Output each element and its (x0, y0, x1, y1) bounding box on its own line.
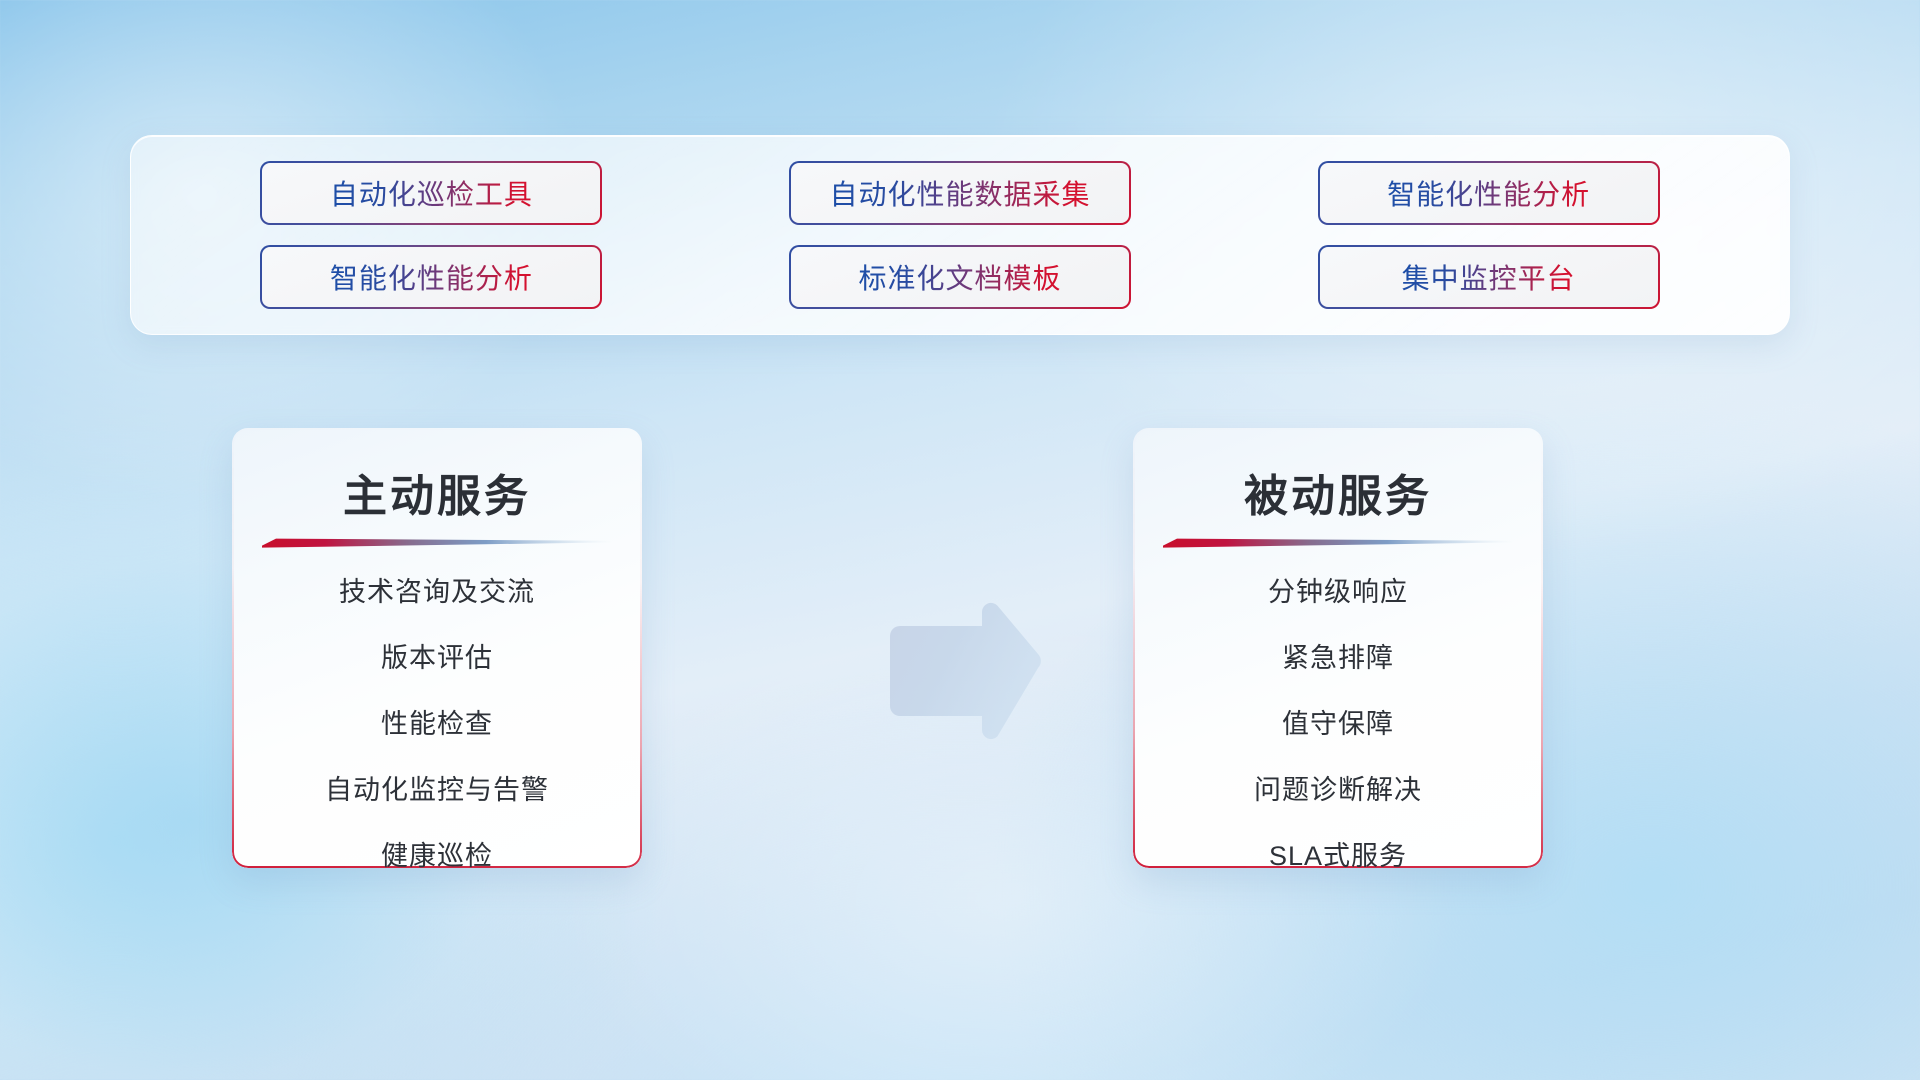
capability-tag-3-surface: 智能化性能分析 (1320, 163, 1658, 223)
list-item: 紧急排障 (1282, 636, 1394, 675)
list-item: 值守保障 (1282, 702, 1394, 741)
service-card-passive-title: 被动服务 (1133, 460, 1543, 524)
capability-tag-6[interactable]: 集中监控平台 (1318, 245, 1660, 309)
capability-tag-2[interactable]: 自动化性能数据采集 (789, 161, 1131, 225)
list-item: 问题诊断解决 (1254, 768, 1422, 807)
capability-tags-panel: 自动化巡检工具 自动化性能数据采集 智能化性能分析 智能化性能分析 标准化文档模… (130, 135, 1790, 335)
capability-tag-4-surface: 智能化性能分析 (262, 247, 600, 307)
service-card-active[interactable]: 主动服务 技术咨询及交流 版本评估 性能检查 自动化监控与告警 健康巡检 (232, 428, 642, 868)
capability-tag-2-label: 自动化性能数据采集 (829, 173, 1090, 213)
list-item: 健康巡检 (381, 834, 493, 868)
service-card-passive-list: 分钟级响应 紧急排障 值守保障 问题诊断解决 SLA式服务 (1133, 570, 1543, 868)
capability-tag-5-surface: 标准化文档模板 (791, 247, 1129, 307)
capability-tag-3[interactable]: 智能化性能分析 (1318, 161, 1660, 225)
capability-tag-3-label: 智能化性能分析 (1387, 173, 1590, 213)
list-item: 版本评估 (381, 636, 493, 675)
capability-tag-6-surface: 集中监控平台 (1320, 247, 1658, 307)
capability-tag-1-label: 自动化巡检工具 (330, 173, 533, 213)
capability-tag-2-surface: 自动化性能数据采集 (791, 163, 1129, 223)
capability-tag-4-label: 智能化性能分析 (330, 257, 533, 297)
capability-tags-grid: 自动化巡检工具 自动化性能数据采集 智能化性能分析 智能化性能分析 标准化文档模… (131, 136, 1789, 334)
service-card-passive-divider (1163, 536, 1513, 548)
arrow-right-icon (878, 598, 1046, 744)
list-item: 分钟级响应 (1268, 570, 1408, 609)
capability-tag-1-surface: 自动化巡检工具 (262, 163, 600, 223)
capability-tag-1[interactable]: 自动化巡检工具 (260, 161, 602, 225)
capability-tag-5[interactable]: 标准化文档模板 (789, 245, 1131, 309)
service-card-active-title: 主动服务 (232, 460, 642, 524)
capability-tag-4[interactable]: 智能化性能分析 (260, 245, 602, 309)
service-card-active-divider (262, 536, 612, 548)
capability-tag-6-label: 集中监控平台 (1402, 257, 1576, 297)
list-item: SLA式服务 (1269, 834, 1407, 868)
service-card-active-list: 技术咨询及交流 版本评估 性能检查 自动化监控与告警 健康巡检 (232, 570, 642, 868)
service-card-passive[interactable]: 被动服务 分钟级响应 紧急排障 值守保障 问题诊断解决 SLA式服务 (1133, 428, 1543, 868)
list-item: 技术咨询及交流 (339, 570, 535, 609)
list-item: 性能检查 (381, 702, 493, 741)
capability-tag-5-label: 标准化文档模板 (858, 257, 1061, 297)
list-item: 自动化监控与告警 (325, 768, 549, 807)
